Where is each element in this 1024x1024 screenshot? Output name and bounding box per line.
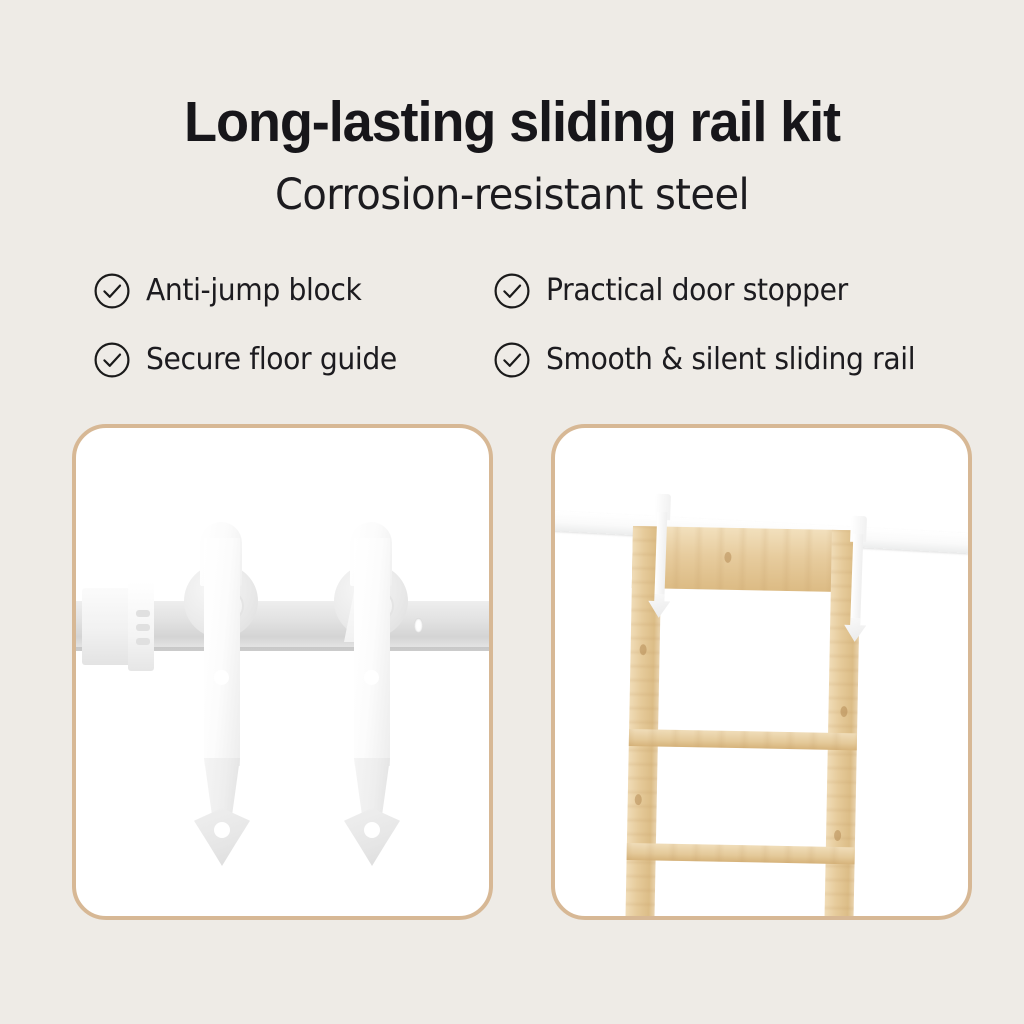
check-circle-icon <box>92 340 132 380</box>
hardware-photo-panel <box>72 424 493 920</box>
feature-item-practical-door-stopper: Practical door stopper <box>492 271 952 311</box>
feature-label: Practical door stopper <box>546 273 848 308</box>
spear-tip-hole <box>214 822 230 838</box>
check-circle-icon <box>92 271 132 311</box>
feature-list: Anti-jump block Practical door stopper S… <box>92 256 952 394</box>
hanger-strap <box>850 534 863 626</box>
hanger-screw-hole <box>364 670 379 685</box>
stopper-ridge <box>136 624 150 631</box>
spear-tip-hole <box>364 822 380 838</box>
feature-item-smooth-silent-sliding-rail: Smooth & silent sliding rail <box>492 340 952 380</box>
feature-label: Smooth & silent sliding rail <box>546 342 915 377</box>
hanger-strap <box>204 538 240 766</box>
door-hanger-left <box>192 522 266 852</box>
mounted-hanger-right <box>851 516 867 517</box>
check-circle-icon <box>492 340 532 380</box>
stopper-ridge <box>136 638 150 645</box>
check-circle-icon <box>492 271 532 311</box>
wood-knot <box>635 794 642 805</box>
wood-knot <box>834 830 841 841</box>
installation-photo-panel <box>551 424 972 920</box>
installation-illustration <box>555 428 968 916</box>
stopper-ridge <box>136 610 150 617</box>
hanger-strap <box>354 538 390 766</box>
wood-knot <box>840 706 847 717</box>
hardware-illustration <box>76 428 489 916</box>
door-hanger-right <box>342 522 416 852</box>
mounted-hanger-left <box>655 494 671 495</box>
feature-item-anti-jump-block: Anti-jump block <box>92 271 492 311</box>
infographic-page: Long-lasting sliding rail kit Corrosion-… <box>0 0 1024 1024</box>
door-cross-rung <box>629 729 857 750</box>
door-cross-rung <box>627 843 855 864</box>
wood-knot <box>724 552 731 563</box>
feature-item-secure-floor-guide: Secure floor guide <box>92 340 492 380</box>
feature-label: Secure floor guide <box>146 342 397 377</box>
page-subtitle: Corrosion-resistant steel <box>36 172 988 219</box>
wood-knot <box>640 644 647 655</box>
page-title: Long-lasting sliding rail kit <box>26 92 999 154</box>
feature-label: Anti-jump block <box>146 273 361 308</box>
hanger-screw-hole <box>214 670 229 685</box>
